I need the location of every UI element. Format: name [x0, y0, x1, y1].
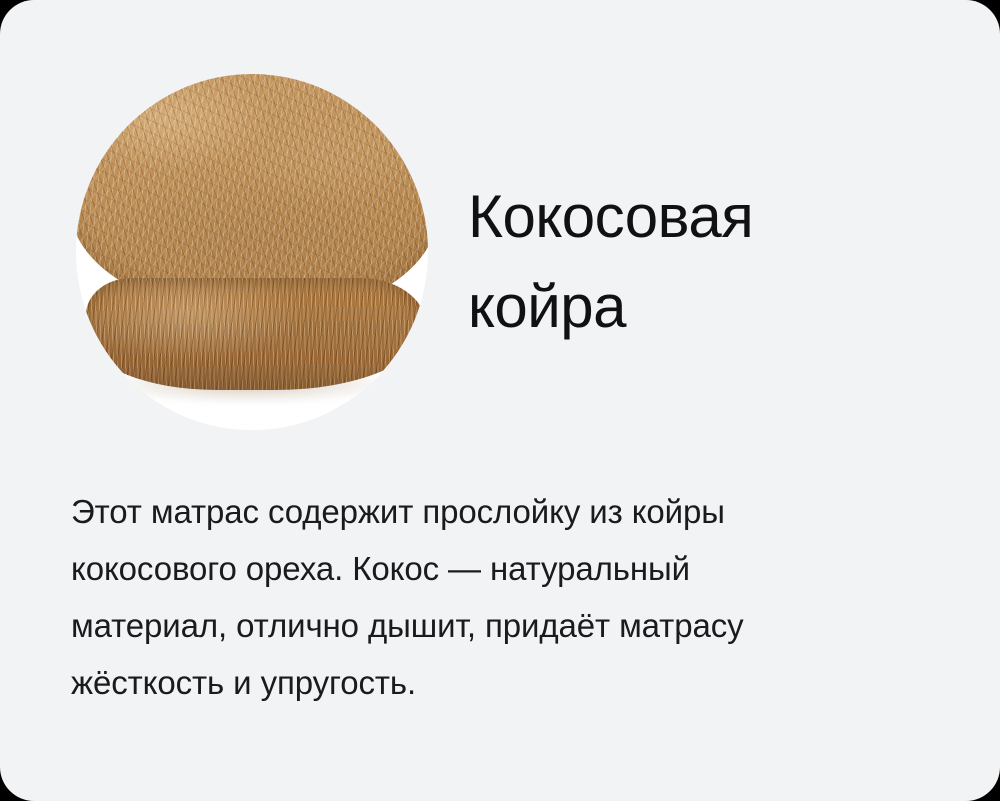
contact-shadow	[104, 364, 394, 404]
material-description: Этот матрас содержит прослойку из койры …	[71, 483, 933, 711]
product-material-info-card: Кокосовая койра Этот матрас содержит про…	[0, 0, 1000, 801]
material-title: Кокосовая койра	[468, 172, 938, 352]
hero-section: Кокосовая койра	[0, 0, 1000, 455]
screenshot-viewport: Кокосовая койра Этот матрас содержит про…	[0, 0, 1000, 801]
coconut-coir-slab-photo	[76, 74, 428, 430]
coir-slab	[76, 74, 428, 404]
